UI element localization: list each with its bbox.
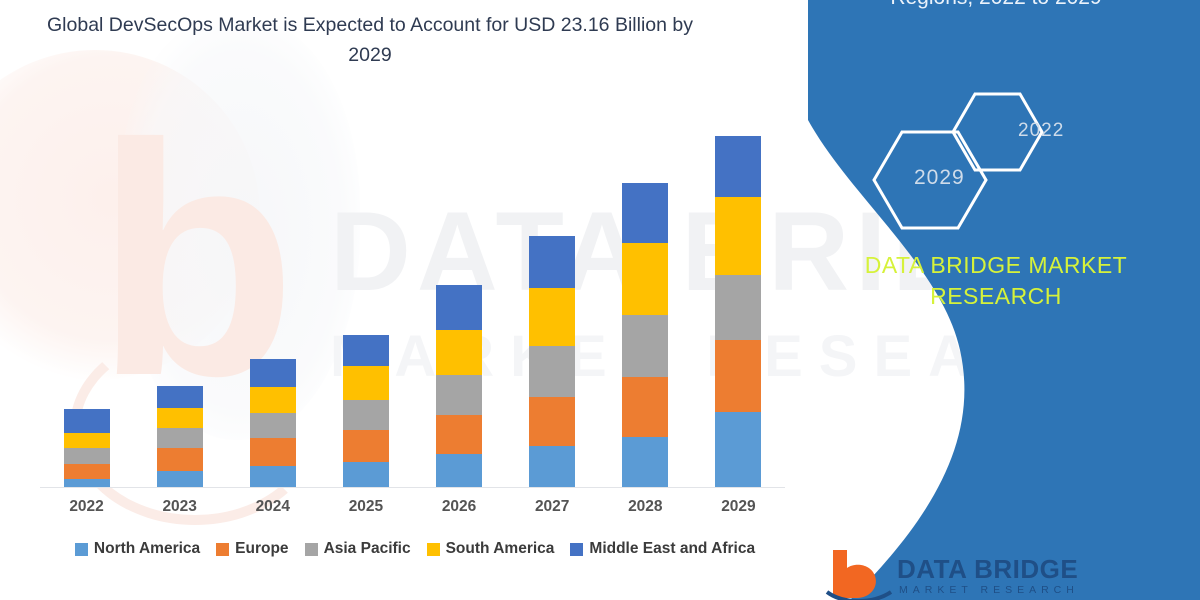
hexagon-label-2022: 2022 [1018,120,1064,142]
bar-segment[interactable] [250,387,296,413]
bar-group [507,110,597,488]
x-axis-tick: 2027 [507,498,597,516]
stacked-bar[interactable] [622,183,668,488]
x-axis-tick: 2025 [321,498,411,516]
legend-item[interactable]: North America [75,540,200,558]
legend-item[interactable]: Middle East and Africa [570,540,755,558]
legend-label: North America [94,540,200,558]
bar-segment[interactable] [436,330,482,375]
legend-label: Europe [235,540,288,558]
x-axis-tick: 2026 [414,498,504,516]
legend-label: Middle East and Africa [589,540,755,558]
infographic-canvas: b DATA BRIDGE MARKET RESEARCH Global Dev… [0,0,1200,600]
bar-segment[interactable] [250,438,296,466]
legend-swatch-icon [305,543,318,556]
bar-segment[interactable] [343,366,389,400]
bar-segment[interactable] [715,275,761,340]
chart-plot-area [40,110,785,488]
bottom-brand-logo: DATA BRIDGE MARKET RESEARCH [825,548,1155,600]
stacked-bar[interactable] [715,136,761,488]
bar-segment[interactable] [622,437,668,488]
bar-segment[interactable] [529,446,575,488]
hexagon-label-2029: 2029 [914,166,965,190]
bar-segment[interactable] [529,397,575,446]
legend-swatch-icon [216,543,229,556]
bar-segment[interactable] [622,243,668,315]
bar-segment[interactable] [436,415,482,454]
bar-segment[interactable] [622,315,668,377]
stacked-bar[interactable] [157,386,203,488]
x-axis-tick-labels: 20222023202420252026202720282029 [40,498,785,524]
bar-group [600,110,690,488]
bar-segment[interactable] [343,400,389,430]
legend-swatch-icon [75,543,88,556]
bar-group [693,110,783,488]
bar-segment[interactable] [64,409,110,433]
legend-label: South America [446,540,555,558]
bar-segment[interactable] [64,433,110,448]
legend-item[interactable]: Europe [216,540,288,558]
x-axis-tick: 2023 [135,498,225,516]
stacked-bar[interactable] [343,335,389,488]
bar-segment[interactable] [529,236,575,288]
x-axis-tick: 2028 [600,498,690,516]
bar-segment[interactable] [250,413,296,438]
bar-segment[interactable] [64,464,110,479]
bar-segment[interactable] [622,377,668,437]
legend-item[interactable]: South America [427,540,555,558]
bar-group [135,110,225,488]
x-axis-tick: 2024 [228,498,318,516]
brand-name-line-1: DATA BRIDGE MARKET [810,250,1182,281]
bar-group [321,110,411,488]
bar-segment[interactable] [250,466,296,488]
bar-segment[interactable] [343,430,389,462]
hexagon-group: 2029 2022 [870,82,1160,232]
bar-segment[interactable] [436,285,482,330]
bar-segment[interactable] [715,340,761,412]
stacked-bar[interactable] [64,409,110,488]
bar-group [414,110,504,488]
bar-segment[interactable] [343,335,389,366]
x-axis-line [40,487,785,488]
bar-segment[interactable] [157,448,203,471]
stacked-bar[interactable] [250,359,296,488]
bar-segment[interactable] [529,288,575,346]
bar-segment[interactable] [157,386,203,408]
chart-legend: North AmericaEuropeAsia PacificSouth Ame… [40,540,790,558]
bar-segment[interactable] [250,359,296,387]
stacked-bar[interactable] [529,236,575,488]
bottom-logo-subtext: MARKET RESEARCH [899,584,1079,596]
bar-group [228,110,318,488]
bar-segment[interactable] [343,462,389,488]
x-axis-tick: 2029 [693,498,783,516]
bar-segment[interactable] [157,428,203,448]
bar-segment[interactable] [436,454,482,488]
panel-heading: Regions, 2022 to 2029 [810,0,1182,12]
bar-segment[interactable] [622,183,668,243]
stacked-bar[interactable] [436,285,482,488]
bar-segment[interactable] [715,197,761,275]
legend-swatch-icon [427,543,440,556]
bar-segment[interactable] [157,408,203,428]
x-axis-tick: 2022 [42,498,132,516]
brand-name: DATA BRIDGE MARKET RESEARCH [810,250,1182,312]
legend-item[interactable]: Asia Pacific [305,540,411,558]
legend-label: Asia Pacific [324,540,411,558]
right-brand-panel: Regions, 2022 to 2029 2029 2022 DATA BRI… [780,0,1200,600]
bar-segment[interactable] [436,375,482,415]
bar-segment[interactable] [715,412,761,488]
page-title: Global DevSecOps Market is Expected to A… [40,10,700,70]
logo-b-icon [825,548,895,600]
bar-segment[interactable] [715,136,761,197]
legend-swatch-icon [570,543,583,556]
bottom-logo-text: DATA BRIDGE [897,554,1078,585]
bar-group [42,110,132,488]
hexagon-icons [870,82,1160,232]
bar-segment[interactable] [64,448,110,464]
bar-segment[interactable] [529,346,575,397]
bar-segment[interactable] [157,471,203,488]
brand-name-line-2: RESEARCH [810,281,1182,312]
